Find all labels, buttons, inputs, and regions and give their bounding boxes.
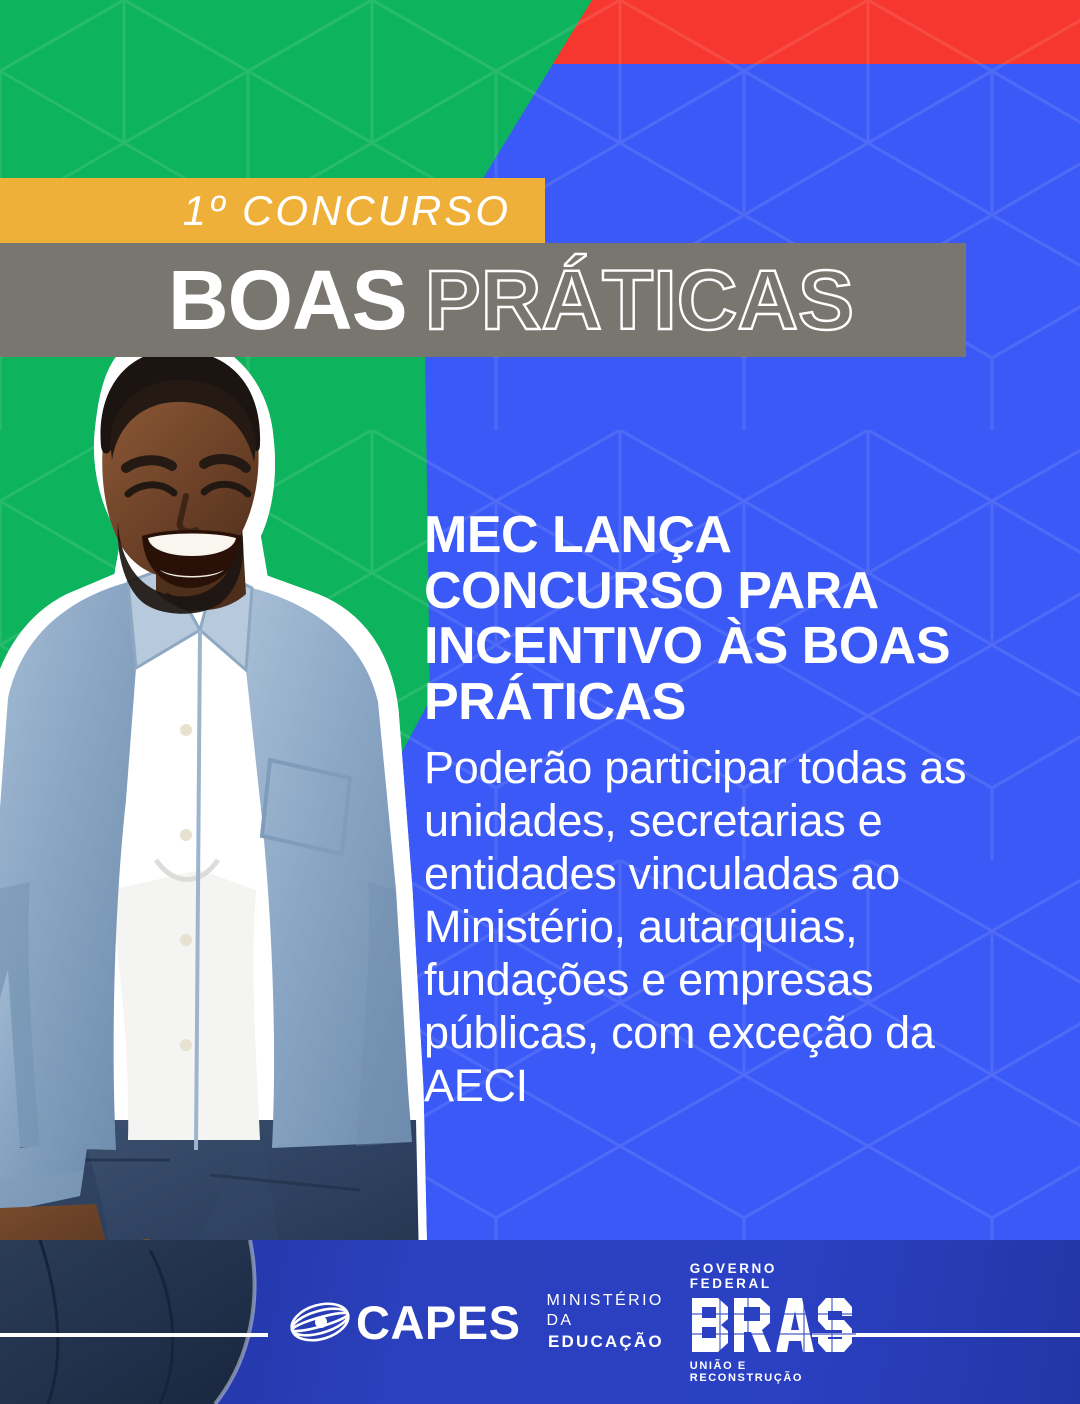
poster-canvas: 1º CONCURSO BOAS PRÁTICAS MEC LANÇA CONC… xyxy=(0,0,1080,1404)
footer-rule-left xyxy=(0,1333,268,1337)
kicker-text: 1º CONCURSO xyxy=(183,190,511,232)
ministry-of-education-logo: MINISTÉRIO DA EDUCAÇÃO xyxy=(546,1291,663,1352)
ministry-line-2: EDUCAÇÃO xyxy=(548,1331,664,1352)
gov-bottom-label: UNIÃO E RECONSTRUÇÃO xyxy=(690,1360,858,1384)
capes-logo: CAPES xyxy=(288,1294,520,1350)
title-boas: BOAS xyxy=(168,258,407,342)
subcopy: Poderão participar todas as unidades, se… xyxy=(424,741,1024,1113)
title-band: BOAS PRÁTICAS xyxy=(0,243,966,357)
footer-bar: CAPES MINISTÉRIO DA EDUCAÇÃO GOVERNO FED… xyxy=(0,1240,1080,1404)
title-praticas: PRÁTICAS xyxy=(425,258,854,342)
brasil-wordmark-icon xyxy=(690,1294,858,1356)
capes-eye-atom-icon xyxy=(288,1294,352,1350)
capes-wordmark: CAPES xyxy=(356,1299,520,1346)
kicker-band: 1º CONCURSO xyxy=(0,178,545,244)
headline: MEC LANÇA CONCURSO PARA INCENTIVO ÀS BOA… xyxy=(424,508,1024,731)
federal-government-logo: GOVERNO FEDERAL xyxy=(690,1261,858,1384)
gov-top-label: GOVERNO FEDERAL xyxy=(690,1261,858,1291)
ministry-line-1: MINISTÉRIO DA xyxy=(546,1291,663,1331)
copy-block: MEC LANÇA CONCURSO PARA INCENTIVO ÀS BOA… xyxy=(424,508,1024,1112)
footer-logo-group: CAPES MINISTÉRIO DA EDUCAÇÃO GOVERNO FED… xyxy=(282,1240,802,1404)
